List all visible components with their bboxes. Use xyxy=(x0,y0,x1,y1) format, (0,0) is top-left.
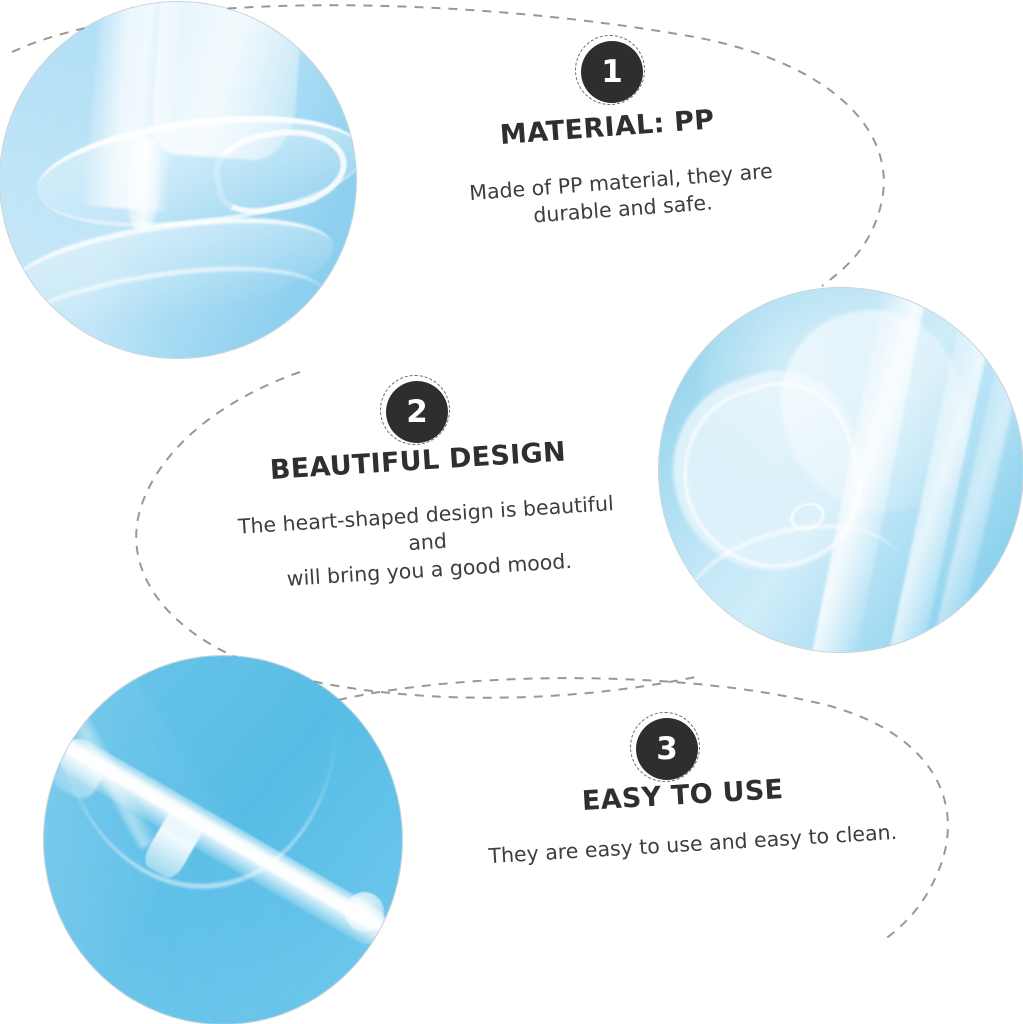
step-badge-3: 3 xyxy=(636,718,698,780)
feature-text-2: BEAUTIFUL DESIGN The heart-shaped design… xyxy=(215,455,635,584)
step-badge-2: 2 xyxy=(386,381,448,443)
photo-1-gloss xyxy=(0,2,178,358)
feature-3-description-line-1: They are easy to use and easy to clean. xyxy=(482,819,903,871)
feature-photo-3 xyxy=(44,656,402,1024)
feature-2-title: BEAUTIFUL DESIGN xyxy=(269,432,635,486)
feature-1-description: Made of PP material, they are durable an… xyxy=(440,156,803,237)
feature-photo-1 xyxy=(0,2,356,358)
feature-photo-2 xyxy=(659,288,1023,652)
photo-1-backdrop xyxy=(0,2,356,358)
feature-3-description: They are easy to use and easy to clean. xyxy=(482,819,903,871)
step-badge-2-number: 2 xyxy=(386,381,448,443)
step-badge-1: 1 xyxy=(581,41,643,103)
photo-3-rod-cap xyxy=(345,892,384,932)
feature-1-title: MATERIAL: PP xyxy=(499,98,800,151)
feature-3-title: EASY TO USE xyxy=(581,767,902,817)
feature-text-1: MATERIAL: PP Made of PP material, they a… xyxy=(440,120,800,224)
feature-2-description: The heart-shaped design is beautiful and… xyxy=(215,489,639,597)
feature-infographic: 1 2 3 MATERIAL: PP Made of PP material, … xyxy=(0,0,1023,1024)
photo-3-backdrop xyxy=(44,656,402,1024)
step-badge-3-number: 3 xyxy=(636,718,698,780)
feature-text-3: EASY TO USE They are easy to use and eas… xyxy=(482,786,902,858)
step-badge-1-number: 1 xyxy=(581,41,643,103)
photo-2-backdrop xyxy=(659,288,1023,652)
